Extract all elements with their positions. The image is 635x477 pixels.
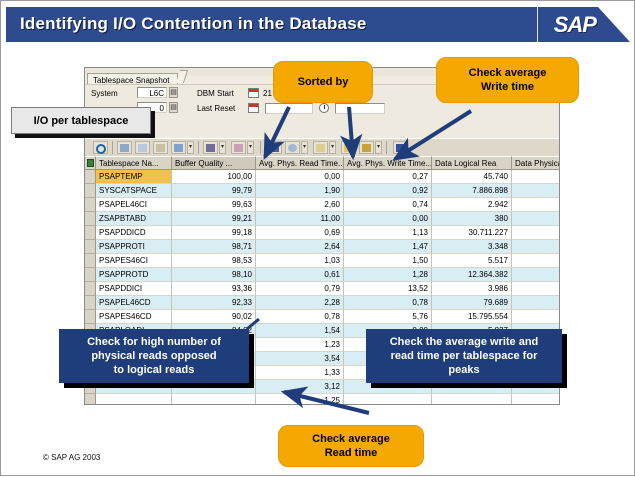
callout-io-per-tablespace: I/O per tablespace — [11, 107, 151, 134]
copyright-footer: © SAP AG 2003 — [43, 453, 100, 462]
cell-buffer-quality[interactable]: 98,10 — [172, 268, 256, 282]
cell-tablespace-name[interactable]: PSAPEL46CD — [96, 296, 172, 310]
table-row[interactable]: PSAPEL46CD92,332,280,7879.6896.111 — [85, 296, 560, 310]
cell-data-logical-reads[interactable]: 380 — [432, 212, 512, 226]
slide-canvas: Identifying I/O Contention in the Databa… — [0, 0, 635, 476]
callout-sorted-by: Sorted by — [273, 61, 373, 103]
cell-data-physical-reads[interactable] — [512, 394, 560, 405]
cell-data-logical-reads[interactable] — [432, 394, 512, 405]
cell-avg-phys-read-time[interactable]: 2,64 — [256, 240, 344, 254]
row-selector[interactable] — [85, 170, 96, 184]
cell-data-logical-reads[interactable]: 30.711.227 — [432, 226, 512, 240]
cell-tablespace-name[interactable]: PSAPDDICI — [96, 282, 172, 296]
cell-data-logical-reads[interactable]: 15.795.554 — [432, 310, 512, 324]
cell-data-logical-reads[interactable]: 5.517 — [432, 254, 512, 268]
row-selector[interactable] — [85, 394, 96, 405]
cell-avg-phys-write-time[interactable]: 13,52 — [344, 282, 432, 296]
cell-avg-phys-read-time[interactable]: 2,28 — [256, 296, 344, 310]
value-dbm-start: 21 — [263, 89, 272, 98]
cell-avg-phys-read-time[interactable]: 0,78 — [256, 310, 344, 324]
toolbar-separator-1 — [112, 141, 113, 154]
cell-tablespace-name[interactable]: PSAPEL46CI — [96, 198, 172, 212]
cell-data-physical-reads[interactable]: 518 — [512, 198, 560, 212]
field-last-reset-time[interactable] — [335, 103, 385, 114]
cell-data-logical-reads[interactable]: 3.986 — [432, 282, 512, 296]
cell-avg-phys-read-time[interactable]: 1,25 — [256, 394, 344, 405]
cell-avg-phys-read-time[interactable]: 0,61 — [256, 268, 344, 282]
table-row[interactable]: PSAPEL46CI99,632,600,742.942518 — [85, 198, 560, 212]
cell-tablespace-name[interactable]: ZSAPBTABD — [96, 212, 172, 226]
cell-buffer-quality[interactable]: 90,02 — [172, 310, 256, 324]
cell-buffer-quality[interactable] — [172, 394, 256, 405]
row-selector[interactable] — [85, 296, 96, 310]
cell-buffer-quality[interactable]: 98,53 — [172, 254, 256, 268]
table-row[interactable]: PSAPPROTD98,100,611,2812.364.382234.648 — [85, 268, 560, 282]
layout-icon[interactable] — [341, 141, 356, 154]
row-selector[interactable] — [85, 226, 96, 240]
cell-avg-phys-read-time[interactable]: 3,12 — [256, 380, 344, 394]
callout-check-read-text: Check average Read time — [312, 432, 390, 460]
callout-io-text: I/O per tablespace — [34, 115, 129, 127]
row-selector[interactable] — [85, 268, 96, 282]
table-row[interactable]: PSAPES46CI98,531,031,505.517530 — [85, 254, 560, 268]
column-header-tablespace-name[interactable]: Tablespace Na... — [96, 156, 172, 170]
cell-buffer-quality[interactable]: 100,00 — [172, 170, 256, 184]
cell-tablespace-name[interactable]: PSAPTEMP — [96, 170, 172, 184]
cell-buffer-quality[interactable]: 99,63 — [172, 198, 256, 212]
subtotal-icon[interactable] — [231, 141, 246, 154]
row-selector[interactable] — [85, 198, 96, 212]
row-selector[interactable] — [85, 212, 96, 226]
export-icon[interactable] — [313, 141, 328, 154]
field-system[interactable]: L6C — [137, 87, 167, 98]
print-icon[interactable] — [117, 141, 132, 154]
row-selector[interactable] — [85, 184, 96, 198]
callout-avg-write-read-time: Check the average write and read time pe… — [366, 329, 562, 383]
cell-avg-phys-write-time[interactable]: 1,50 — [344, 254, 432, 268]
grid-header-row: Tablespace Na... Buffer Quality ... Avg.… — [85, 156, 560, 170]
column-header-avg-phys-write-time[interactable]: Avg. Phys. Write Time... — [344, 156, 432, 170]
table-row[interactable]: PSAPDDICD99,180,691,1330.711.227252.857 — [85, 226, 560, 240]
row-selector[interactable] — [85, 282, 96, 296]
subtotal-dropdown-arrow-icon[interactable]: ▾ — [247, 141, 254, 154]
cell-avg-phys-read-time[interactable]: 0,79 — [256, 282, 344, 296]
callout-check-average-read-time: Check average Read time — [278, 425, 424, 467]
cell-avg-phys-read-time[interactable]: 11,00 — [256, 212, 344, 226]
toolbar-separator-2 — [198, 141, 199, 154]
calendar-icon-2 — [248, 103, 259, 113]
cell-avg-phys-write-time[interactable]: 1,28 — [344, 268, 432, 282]
cell-avg-phys-read-time[interactable]: 1,90 — [256, 184, 344, 198]
refresh-icon[interactable] — [285, 141, 300, 154]
cell-tablespace-name[interactable]: SYSCATSPACE — [96, 184, 172, 198]
cell-tablespace-name[interactable]: PSAPES46CI — [96, 254, 172, 268]
sap-logo: SAP — [554, 12, 596, 38]
table-row[interactable]: PSAPDDICI93,360,7913,523.986582 — [85, 282, 560, 296]
clock-icon — [319, 103, 329, 113]
cell-buffer-quality[interactable]: 99,79 — [172, 184, 256, 198]
cell-data-logical-reads[interactable]: 79.689 — [432, 296, 512, 310]
cell-buffer-quality[interactable]: 99,21 — [172, 212, 256, 226]
callout-check-write-text: Check average Write time — [469, 66, 547, 94]
table-row[interactable]: 1,25 — [85, 394, 560, 405]
table-row[interactable]: ZSAPBTABD99,2111,000,003803 — [85, 212, 560, 226]
cell-data-logical-reads[interactable]: 45.740 — [432, 170, 512, 184]
toolbar-separator-4 — [386, 141, 387, 154]
sum-icon[interactable] — [203, 141, 218, 154]
cell-data-physical-reads[interactable]: 302.291 — [512, 184, 560, 198]
column-header-data-logical-reads[interactable]: Data Logical Rea — [432, 156, 512, 170]
cell-avg-phys-read-time[interactable]: 1,23 — [256, 338, 344, 352]
sort-ascending-icon[interactable] — [153, 141, 168, 154]
column-header-buffer-quality[interactable]: Buffer Quality ... — [172, 156, 256, 170]
system-search-help-button[interactable]: ▤ — [169, 87, 178, 98]
cell-data-logical-reads[interactable]: 3.348 — [432, 240, 512, 254]
save-icon[interactable] — [393, 141, 408, 154]
tabstrip[interactable]: Tablespace Snapshot — [87, 70, 186, 83]
callout-avg-write-read-text: Check the average write and read time pe… — [390, 335, 539, 377]
cell-avg-phys-write-time[interactable]: 0,00 — [344, 212, 432, 226]
row-selector[interactable] — [85, 254, 96, 268]
cell-buffer-quality[interactable]: 92,33 — [172, 296, 256, 310]
column-header-data-physical-reads[interactable]: Data Physical Rea.. — [512, 156, 560, 170]
export-dropdown-arrow-icon[interactable]: ▾ — [329, 141, 336, 154]
grid-toolbar[interactable]: ▾ ▾ ▾ ▾ ▾ ▾ — [85, 138, 560, 157]
title-divider — [537, 7, 538, 42]
tab-shear — [175, 70, 187, 83]
column-header-buffer-quality-label: Buffer Quality ... — [175, 159, 232, 168]
cell-data-logical-reads[interactable]: 2.942 — [432, 198, 512, 212]
cell-avg-phys-read-time[interactable]: 1,03 — [256, 254, 344, 268]
cell-data-physical-reads[interactable]: 252.857 — [512, 226, 560, 240]
cell-data-physical-reads[interactable]: 234.648 — [512, 268, 560, 282]
cell-avg-phys-write-time[interactable]: 5,76 — [344, 310, 432, 324]
cell-data-physical-reads[interactable]: 0 — [512, 170, 560, 184]
row-selector[interactable] — [85, 310, 96, 324]
cell-tablespace-name[interactable]: PSAPES46CD — [96, 310, 172, 324]
cell-avg-phys-read-time[interactable]: 2,60 — [256, 198, 344, 212]
cell-avg-phys-read-time[interactable]: 1,54 — [256, 324, 344, 338]
find-icon[interactable] — [93, 141, 108, 154]
cell-avg-phys-write-time[interactable]: 1,47 — [344, 240, 432, 254]
cell-data-physical-reads[interactable]: 6.111 — [512, 296, 560, 310]
cell-avg-phys-read-time[interactable]: 0,69 — [256, 226, 344, 240]
cell-avg-phys-write-time[interactable]: 1,13 — [344, 226, 432, 240]
cell-tablespace-name[interactable]: PSAPDDICD — [96, 226, 172, 240]
cell-data-physical-reads[interactable]: 1.576.527 — [512, 310, 560, 324]
label-dbm-start: DBM Start — [197, 89, 234, 98]
cell-buffer-quality[interactable]: 99,18 — [172, 226, 256, 240]
label-last-reset: Last Reset — [197, 104, 235, 113]
table-row[interactable]: PSAPES46CD90,020,785,7615.795.5541.576.5… — [85, 310, 560, 324]
cell-tablespace-name[interactable]: PSAPPROTI — [96, 240, 172, 254]
cell-data-physical-reads[interactable]: 3 — [512, 212, 560, 226]
cell-avg-phys-write-time[interactable]: 0,27 — [344, 170, 432, 184]
page-title: Identifying I/O Contention in the Databa… — [20, 14, 367, 34]
label-system: System — [91, 89, 118, 98]
cell-tablespace-name[interactable]: PSAPPROTD — [96, 268, 172, 282]
detail-icon[interactable] — [267, 141, 282, 154]
table-row[interactable]: PSAPPROTI98,712,641,473.348507 — [85, 240, 560, 254]
refresh-dropdown-arrow-icon[interactable]: ▾ — [301, 141, 308, 154]
callout-high-physical-reads: Check for high number of physical reads … — [59, 329, 249, 383]
table-row[interactable]: PSAPTEMP100,000,000,2745.7400 — [85, 170, 560, 184]
cell-avg-phys-write-time[interactable]: 0,92 — [344, 184, 432, 198]
filter-icon[interactable] — [135, 141, 150, 154]
cell-data-physical-reads[interactable]: 530 — [512, 254, 560, 268]
cell-avg-phys-write-time[interactable] — [344, 394, 432, 405]
row-selector[interactable] — [85, 240, 96, 254]
graphic-dropdown-arrow-icon[interactable]: ▾ — [375, 141, 382, 154]
table-row[interactable]: SYSCATSPACE99,791,900,927.886.898302.291 — [85, 184, 560, 198]
cell-buffer-quality[interactable]: 98,71 — [172, 240, 256, 254]
callout-high-physical-reads-text: Check for high number of physical reads … — [87, 335, 221, 377]
column-header-avg-phys-read-time[interactable]: Avg. Phys. Read Time... — [256, 156, 344, 170]
cell-data-physical-reads[interactable]: 507 — [512, 240, 560, 254]
cell-buffer-quality[interactable]: 93,36 — [172, 282, 256, 296]
cell-data-logical-reads[interactable]: 7.886.898 — [432, 184, 512, 198]
cell-avg-phys-write-time[interactable]: 0,78 — [344, 296, 432, 310]
grid-select-all-icon[interactable] — [85, 156, 96, 170]
cell-data-physical-reads[interactable]: 582 — [512, 282, 560, 296]
toolbar-separator-3 — [260, 141, 261, 154]
cell-tablespace-name[interactable] — [96, 394, 172, 405]
secondary-search-help-button[interactable]: ▤ — [169, 102, 178, 113]
cell-data-logical-reads[interactable]: 12.364.382 — [432, 268, 512, 282]
sum-dropdown-arrow-icon[interactable]: ▾ — [219, 141, 226, 154]
title-corner-triangle — [598, 7, 630, 42]
filter-set-icon[interactable] — [171, 141, 186, 154]
cell-avg-phys-read-time[interactable]: 3,54 — [256, 352, 344, 366]
cell-avg-phys-write-time[interactable]: 0,74 — [344, 198, 432, 212]
slide-title-bar: Identifying I/O Contention in the Databa… — [6, 7, 630, 42]
cell-avg-phys-read-time[interactable]: 0,00 — [256, 170, 344, 184]
field-last-reset[interactable] — [265, 103, 313, 114]
cell-avg-phys-read-time[interactable]: 1,33 — [256, 366, 344, 380]
graphic-icon[interactable] — [359, 141, 374, 154]
callout-check-average-write-time: Check average Write time — [436, 57, 579, 103]
callout-sorted-by-text: Sorted by — [298, 75, 349, 89]
filter-dropdown-arrow-icon[interactable]: ▾ — [187, 141, 194, 154]
calendar-icon — [248, 88, 259, 98]
